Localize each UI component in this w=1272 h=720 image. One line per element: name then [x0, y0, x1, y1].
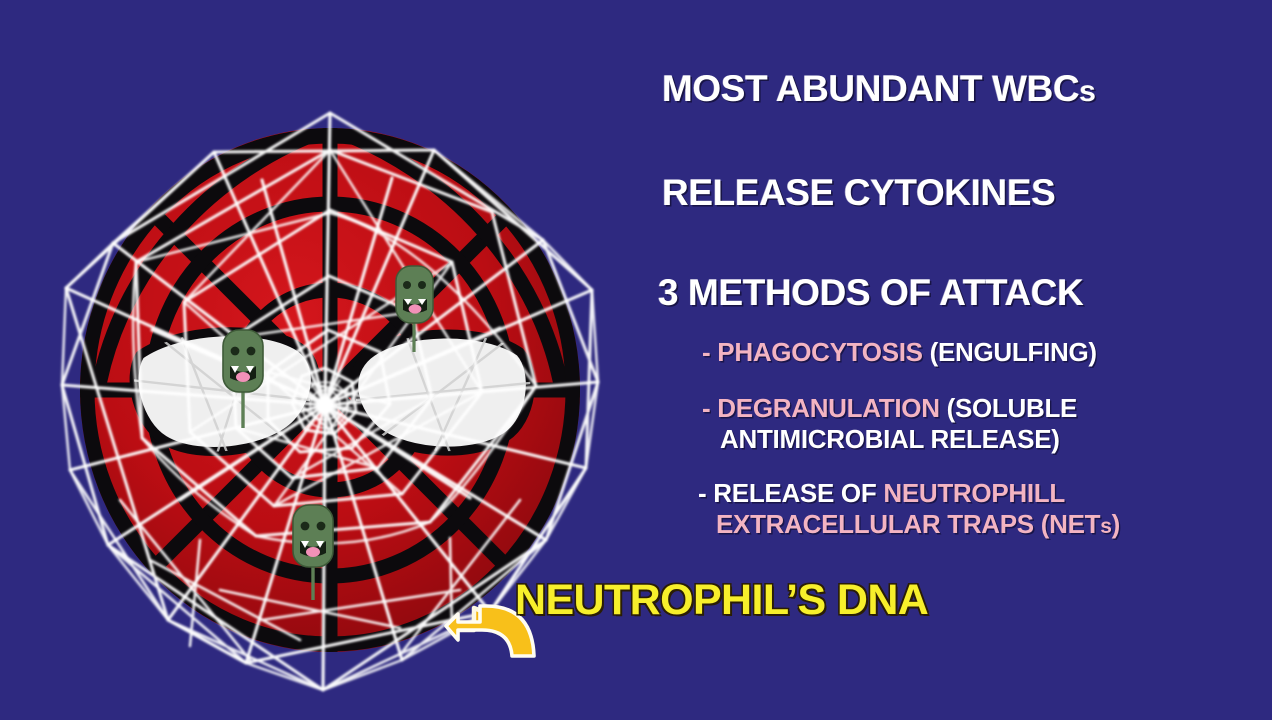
headline-3-methods-of-attack: 3 METHODS OF ATTACK [658, 272, 1083, 314]
bullet-2-detail-line2: ANTIMICROBIAL RELEASE) [702, 424, 1172, 455]
bullet-1-detail: (ENGULFING) [923, 337, 1097, 367]
bullet-3-term-line2: EXTRACELLULAR TRAPS (NETs) [698, 509, 1198, 542]
headline-release-cytokines: RELEASE CYTOKINES [662, 172, 1055, 214]
bullet-1-term: PHAGOCYTOSIS [717, 337, 922, 367]
bullet-3-term-line2-main: EXTRACELLULAR TRAPS (NET [716, 509, 1100, 539]
headline-3-main: 3 METHODS OF ATTACK [658, 272, 1083, 313]
bullet-degranulation: - DEGRANULATION (SOLUBLEANTIMICROBIAL RE… [702, 393, 1172, 455]
headline-2-main: RELEASE CYTOKINES [662, 172, 1055, 213]
bullet-2-term: DEGRANULATION [717, 393, 939, 423]
bullet-2-dash: - [702, 393, 717, 423]
bullet-nets: - RELEASE OF NEUTROPHILLEXTRACELLULAR TR… [698, 478, 1198, 542]
bullet-3-lead: RELEASE OF [713, 478, 883, 508]
headline-1-suffix: s [1079, 75, 1095, 108]
bullet-3-term-close: ) [1112, 509, 1120, 539]
bullet-3-term: NEUTROPHILL [883, 478, 1065, 508]
headline-most-abundant-wbcs: MOST ABUNDANT WBCs [662, 68, 1096, 110]
bullet-1-dash: - [702, 337, 717, 367]
headline-1-main: MOST ABUNDANT WBC [662, 68, 1079, 109]
neutrophils-dna-label: NEUTROPHIL’S DNA [515, 576, 928, 625]
bullet-phagocytosis: - PHAGOCYTOSIS (ENGULFING) [702, 337, 1097, 368]
slide-canvas: MOST ABUNDANT WBCs RELEASE CYTOKINES 3 M… [0, 0, 1272, 720]
bullet-3-term-suffix: s [1100, 515, 1111, 538]
bullet-3-dash: - [698, 478, 713, 508]
bullet-2-detail: (SOLUBLE [940, 393, 1077, 423]
